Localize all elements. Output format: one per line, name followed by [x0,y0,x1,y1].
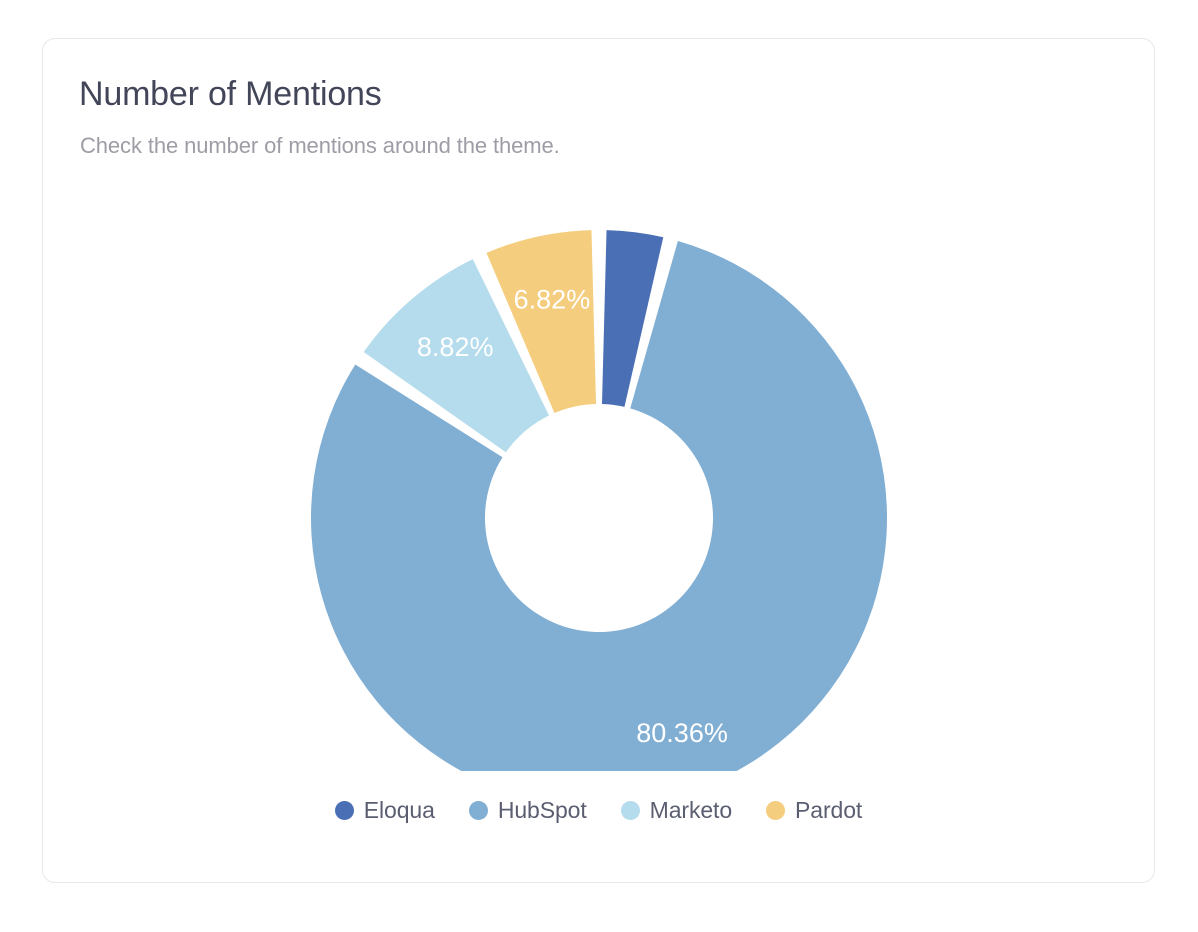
legend-swatch-icon [335,801,354,820]
legend-item-eloqua[interactable]: Eloqua [335,797,435,824]
legend-label: Marketo [650,797,732,824]
legend-item-hubspot[interactable]: HubSpot [469,797,587,824]
legend-swatch-icon [766,801,785,820]
legend-label: HubSpot [498,797,587,824]
legend-item-marketo[interactable]: Marketo [621,797,732,824]
slice-label-pardot: 6.82% [514,284,591,314]
legend-item-pardot[interactable]: Pardot [766,797,862,824]
donut-slice-group [311,230,887,771]
legend-swatch-icon [621,801,640,820]
slice-label-hubspot: 80.36% [636,718,728,748]
chart-card: Number of Mentions Check the number of m… [42,38,1155,883]
legend-swatch-icon [469,801,488,820]
donut-chart-svg: 80.36%8.82%6.82% [43,151,1154,771]
legend-label: Pardot [795,797,862,824]
page-title: Number of Mentions [79,75,382,114]
chart-legend: EloquaHubSpotMarketoPardot [43,797,1154,824]
donut-chart: 80.36%8.82%6.82% [43,151,1154,771]
legend-label: Eloqua [364,797,435,824]
slice-label-marketo: 8.82% [417,332,494,362]
